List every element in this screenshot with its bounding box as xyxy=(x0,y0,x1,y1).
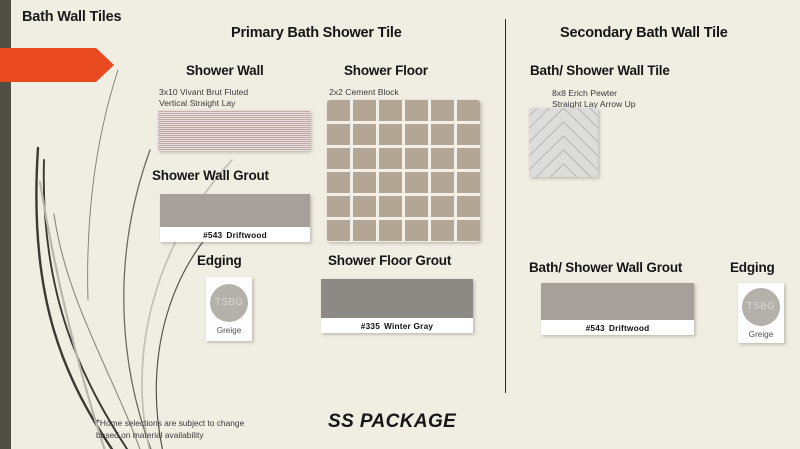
shower-wall-heading: Shower Wall xyxy=(186,63,264,78)
primary-edging-heading: Edging xyxy=(197,253,242,268)
shower-floor-grout-code: #335 xyxy=(361,321,380,331)
secondary-edging-swatch[interactable]: TSBG Greige xyxy=(738,283,784,343)
secondary-edging-heading: Edging xyxy=(730,260,775,275)
secondary-wall-grout-heading: Bath/ Shower Wall Grout xyxy=(529,260,682,275)
primary-section-heading: Primary Bath Shower Tile xyxy=(231,25,402,41)
shower-floor-grout-heading: Shower Floor Grout xyxy=(328,253,451,268)
shower-wall-grout-label: #543 Driftwood xyxy=(160,227,310,242)
disclaimer: *Home selections are subject to change b… xyxy=(96,418,244,441)
secondary-wall-grout-code: #543 xyxy=(586,323,605,333)
secondary-section-heading: Secondary Bath Wall Tile xyxy=(560,25,728,41)
tile-selection-board: Bath Wall Tiles Primary Bath Shower Tile… xyxy=(0,0,800,449)
shower-wall-grout-swatch[interactable]: #543 Driftwood xyxy=(160,194,310,242)
secondary-wall-tile-spec-line1: 8x8 Erich Pewter xyxy=(552,88,617,99)
secondary-edging-mark-circle: TSBG xyxy=(742,288,780,326)
chevron-tile-texture xyxy=(529,108,598,177)
package-label: SS PACKAGE xyxy=(328,411,456,433)
primary-edging-swatch[interactable]: TSBG Greige xyxy=(206,277,252,341)
accent-arrow-ribbon xyxy=(0,46,115,84)
shower-floor-grout-label: #335 Winter Gray xyxy=(321,318,473,333)
board-title: Bath Wall Tiles xyxy=(12,6,133,30)
shower-wall-spec-line1: 3x10 Vivant Brut Fluted xyxy=(159,87,248,98)
fluted-tile-texture xyxy=(158,110,310,151)
shower-wall-grout-code: #543 xyxy=(203,230,222,240)
shower-wall-tile-swatch[interactable] xyxy=(158,110,310,151)
secondary-wall-grout-name: Driftwood xyxy=(609,323,650,333)
secondary-wall-tile-swatch[interactable] xyxy=(529,108,598,177)
primary-edging-mark: TSBG xyxy=(215,297,243,308)
mosaic-tile-texture xyxy=(327,100,480,242)
primary-edging-caption: Greige xyxy=(217,326,242,335)
shower-wall-grout-heading: Shower Wall Grout xyxy=(152,168,269,183)
disclaimer-line1: Home selections are subject to change xyxy=(100,418,244,428)
secondary-wall-tile-heading: Bath/ Shower Wall Tile xyxy=(530,63,670,78)
shower-floor-grout-swatch[interactable]: #335 Winter Gray xyxy=(321,279,473,333)
disclaimer-line2: based on material availability xyxy=(96,430,244,442)
board-title-text: Bath Wall Tiles xyxy=(22,9,121,25)
secondary-wall-grout-label: #543 Driftwood xyxy=(541,320,694,335)
section-divider xyxy=(505,19,506,393)
shower-floor-grout-name: Winter Gray xyxy=(384,321,433,331)
shower-floor-spec-line1: 2x2 Cement Block xyxy=(329,87,399,98)
primary-edging-mark-circle: TSBG xyxy=(210,284,248,322)
shower-wall-grout-name: Driftwood xyxy=(226,230,267,240)
secondary-wall-grout-swatch[interactable]: #543 Driftwood xyxy=(541,283,694,335)
shower-wall-spec-line2: Vertical Straight Lay xyxy=(159,98,235,109)
secondary-edging-caption: Greige xyxy=(749,330,774,339)
shower-floor-tile-swatch[interactable] xyxy=(327,100,480,242)
shower-floor-heading: Shower Floor xyxy=(344,63,428,78)
secondary-edging-mark: TSBG xyxy=(747,301,775,312)
